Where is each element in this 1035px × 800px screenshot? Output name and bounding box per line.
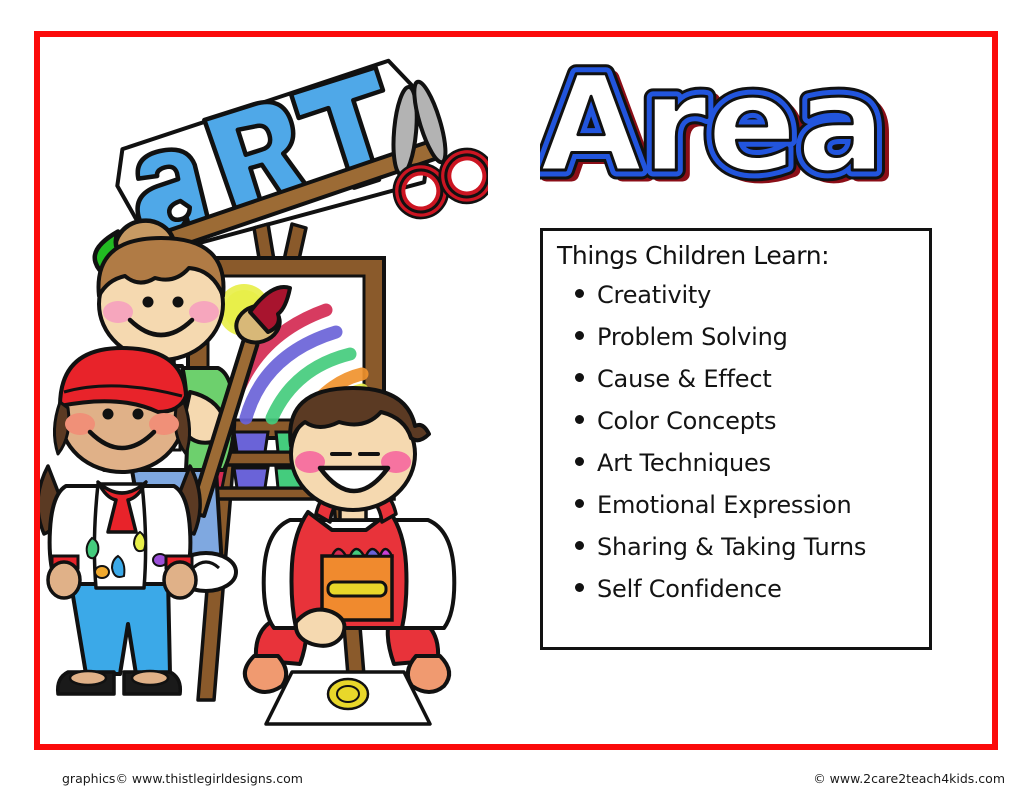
- list-item-label: Problem Solving: [597, 323, 788, 351]
- art-scene-illustration: [40, 220, 620, 740]
- list-item: Cause & Effect: [567, 365, 866, 407]
- list-item: Problem Solving: [567, 323, 866, 365]
- bullet-icon: [575, 541, 584, 550]
- list-item-label: Sharing & Taking Turns: [597, 533, 866, 561]
- list-item: Self Confidence: [567, 575, 866, 617]
- footer-credit-left: graphics© www.thistlegirldesigns.com: [62, 771, 303, 786]
- bullet-icon: [575, 289, 584, 298]
- crayon-box: [322, 549, 392, 620]
- page-title-fill: Area: [540, 52, 886, 202]
- list-item: Creativity: [567, 281, 866, 323]
- things-children-learn-box: Things Children Learn: Creativity Proble…: [540, 228, 932, 650]
- list-item-label: Self Confidence: [597, 575, 782, 603]
- page-title: .bubble-text { font-family: "DejaVu Sans…: [540, 52, 960, 212]
- art-area-poster: .bubble-text { font-family: "DejaVu Sans…: [0, 0, 1035, 800]
- paper-scribble: [328, 679, 368, 709]
- list-item-label: Color Concepts: [597, 407, 776, 435]
- list-item: Art Techniques: [567, 449, 866, 491]
- girl-smock-figure: [40, 348, 200, 694]
- bullet-icon: [575, 499, 584, 508]
- list-item-label: Cause & Effect: [597, 365, 772, 393]
- list-item: Color Concepts: [567, 407, 866, 449]
- list-item-label: Creativity: [597, 281, 711, 309]
- bullet-icon: [575, 415, 584, 424]
- list-item-label: Emotional Expression: [597, 491, 851, 519]
- list-item-label: Art Techniques: [597, 449, 771, 477]
- bullet-icon: [575, 583, 584, 592]
- list-item: Emotional Expression: [567, 491, 866, 533]
- bullet-icon: [575, 373, 584, 382]
- footer-credit-right: © www.2care2teach4kids.com: [813, 771, 1005, 786]
- bullet-icon: [575, 457, 584, 466]
- learn-box-list: Creativity Problem Solving Cause & Effec…: [567, 281, 866, 617]
- learn-box-heading: Things Children Learn:: [557, 241, 829, 270]
- bullet-icon: [575, 331, 584, 340]
- list-item: Sharing & Taking Turns: [567, 533, 866, 575]
